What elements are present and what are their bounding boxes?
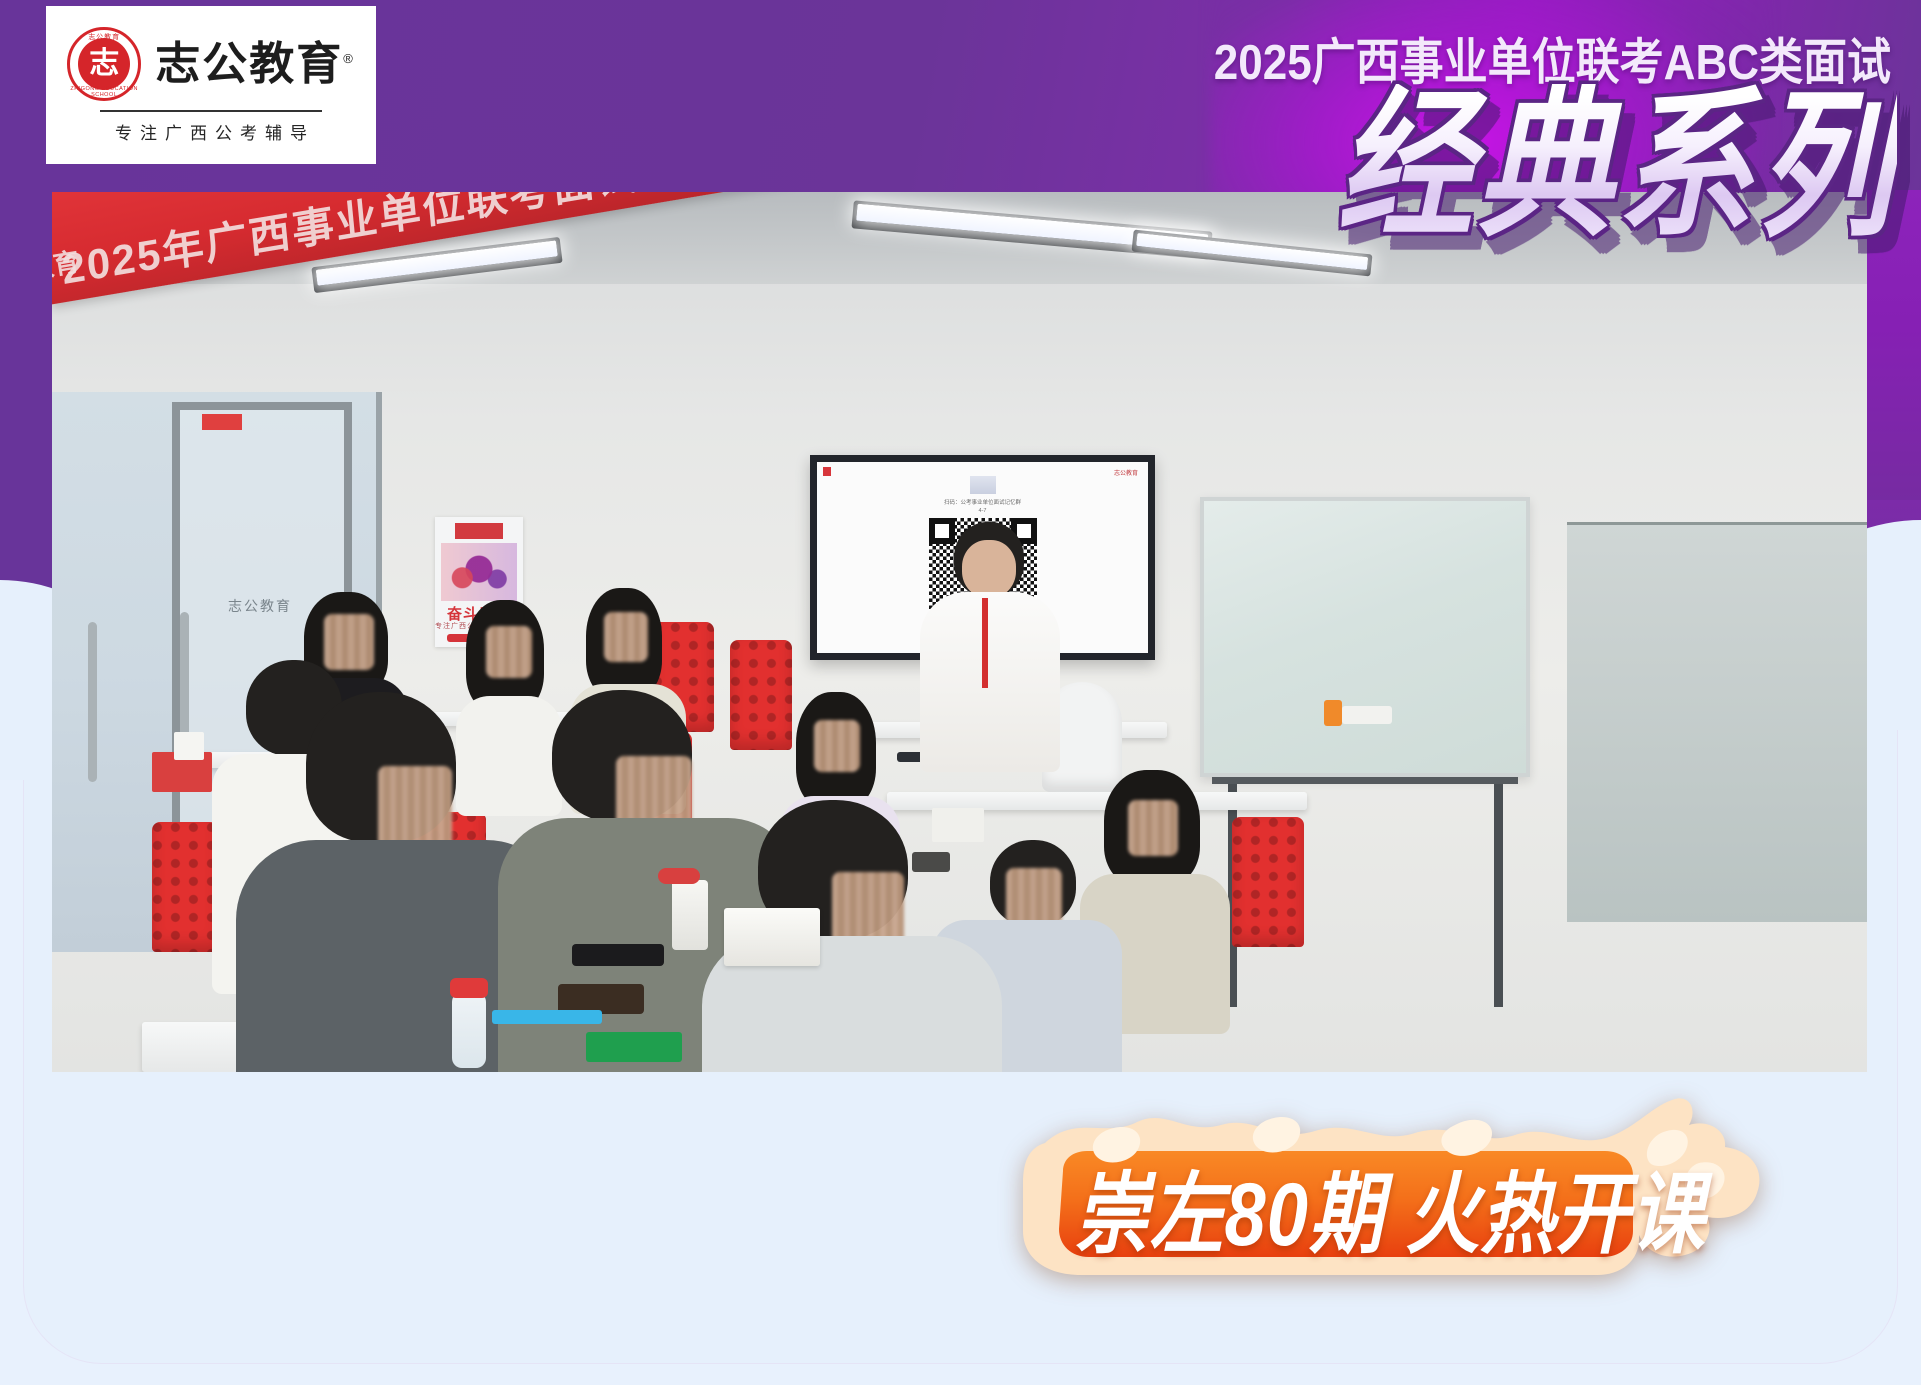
screen-logo-right-text: 志公教育 — [1114, 468, 1138, 477]
drink-cup — [672, 880, 708, 950]
classroom-photo: 教育 2025年广西事业单位联考面试 志公教育 奋斗原则 专注广西公考辅导人的专… — [52, 192, 1867, 1072]
classroom-chair — [1232, 817, 1304, 947]
stationery — [492, 1010, 602, 1024]
poster-headline: 经典系列 — [1337, 84, 1897, 248]
brand-name: 志公教育® — [155, 41, 355, 86]
footer-flame-banner: 崇左80期 火热开课 — [985, 1085, 1775, 1285]
wall-poster-runners-icon — [441, 543, 517, 601]
door-handle — [88, 622, 97, 782]
brand-tagline: 专注广西公考辅导 — [107, 119, 315, 144]
whiteboard-tray — [1212, 777, 1518, 784]
presenter — [920, 522, 1060, 782]
marker-pen — [1324, 700, 1342, 726]
classroom-chair — [152, 822, 218, 952]
wall-poster-header — [455, 523, 503, 539]
notebook — [586, 1032, 682, 1062]
water-bottle — [452, 992, 486, 1068]
seal-arc-bottom-text: ZHIGONG EDUCATION SCHOOL — [67, 86, 141, 98]
brand-name-text: 志公教育 — [155, 38, 343, 89]
footer-banner-text: 崇左80期 火热开课 — [1037, 1143, 1743, 1271]
whiteboard-eraser — [1342, 706, 1392, 724]
door-brand-text: 志公教育 — [228, 596, 292, 616]
papers — [932, 808, 984, 842]
smartphone — [572, 944, 664, 966]
screen-logo-left-icon — [823, 467, 853, 476]
screen-caption-1: 扫码：公考事业单位面试记忆群 — [944, 498, 1021, 506]
book — [724, 908, 820, 966]
poster-canvas: 志公教育 志 ZHIGONG EDUCATION SCHOOL 志公教育® 专注… — [0, 0, 1921, 1385]
whiteboard-leg — [1494, 777, 1503, 1007]
brand-logo-row: 志公教育 志 ZHIGONG EDUCATION SCHOOL 志公教育® — [67, 27, 355, 101]
eraser — [912, 852, 950, 872]
cup-lid — [658, 868, 700, 884]
brand-divider — [100, 110, 322, 112]
whiteboard — [1200, 497, 1530, 777]
registered-mark-icon: ® — [343, 51, 355, 66]
brand-logo-card: 志公教育 志 ZHIGONG EDUCATION SCHOOL 志公教育® 专注… — [46, 6, 376, 164]
paper-cup — [174, 732, 204, 760]
screen-caption-2: 4-7 — [979, 508, 987, 514]
exit-sign-icon — [202, 414, 242, 430]
bottle-cap — [450, 978, 488, 998]
screen-thumbnail — [970, 476, 996, 494]
brand-seal-icon: 志公教育 志 ZHIGONG EDUCATION SCHOOL — [67, 27, 141, 101]
seal-center-char: 志 — [78, 38, 130, 90]
photo-right-wall-panel — [1567, 522, 1867, 922]
